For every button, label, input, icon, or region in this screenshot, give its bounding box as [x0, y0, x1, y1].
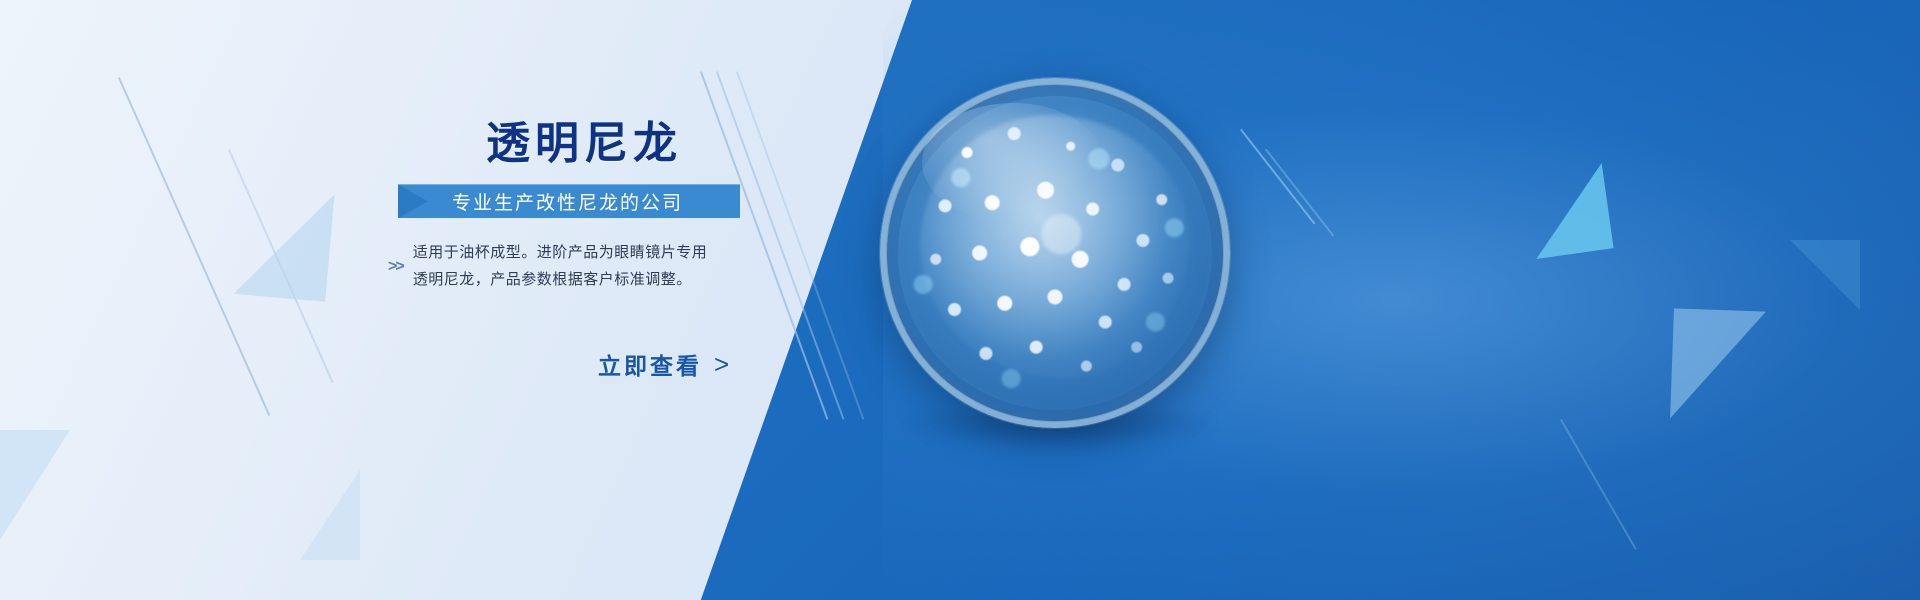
decorative-triangle-left-upper [233, 186, 334, 302]
tagline-text: 专业生产改性尼龙的公司 [398, 188, 683, 215]
decorative-triangle-left-lower [0, 430, 70, 540]
double-chevron-right-icon: >> [388, 258, 403, 276]
chevron-right-icon: > [714, 351, 729, 377]
tagline-ribbon: 专业生产改性尼龙的公司 [398, 184, 800, 218]
banner-content: 透明尼龙 专业生产改性尼龙的公司 >> 适用于油杯成型。进阶产品为眼睛镜片专用 … [380, 120, 800, 381]
promo-banner: 透明尼龙 专业生产改性尼龙的公司 >> 适用于油杯成型。进阶产品为眼睛镜片专用 … [0, 0, 1920, 600]
view-now-button[interactable]: 立即查看 > [598, 347, 729, 381]
description-row: >> 适用于油杯成型。进阶产品为眼睛镜片专用 透明尼龙，产品参数根据客户标准调整… [388, 240, 800, 293]
decorative-triangle-right-cyan [1524, 163, 1613, 259]
petri-dish-interior [898, 96, 1212, 410]
description-line-2: 透明尼龙，产品参数根据客户标准调整。 [413, 267, 708, 293]
decorative-triangle-left-bottom [300, 470, 360, 560]
description-line-1: 适用于油杯成型。进阶产品为眼睛镜片专用 [413, 240, 708, 266]
pellet-crystals-highlight-layer [898, 96, 1212, 410]
decorative-triangle-right-dark [1790, 240, 1860, 310]
decorative-triangle-right-pale [1670, 308, 1766, 421]
product-image-nylon-pellets [880, 78, 1230, 428]
description-text: 适用于油杯成型。进阶产品为眼睛镜片专用 透明尼龙，产品参数根据客户标准调整。 [413, 240, 708, 293]
page-title: 透明尼龙 [380, 120, 800, 168]
view-now-label: 立即查看 [598, 347, 702, 381]
